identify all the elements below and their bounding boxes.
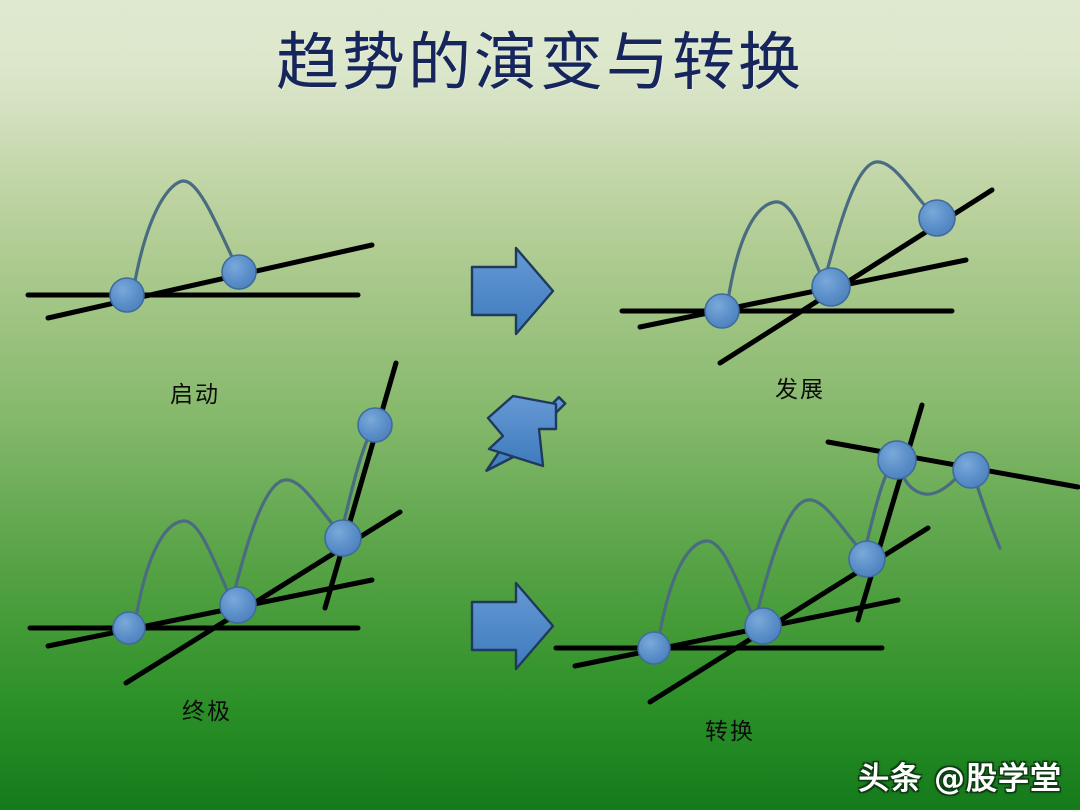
node-point [358,408,392,442]
slide-canvas: 趋势的演变与转换 [0,0,1080,810]
node-point [812,268,850,306]
trendline-2 [650,528,928,702]
node-point [220,587,256,623]
node-point [222,255,256,289]
node-point [110,278,144,312]
node-point [638,632,670,664]
trendline-1 [48,245,372,318]
right-arrow-icon [472,583,553,669]
trendline-1 [48,580,372,646]
node-point [113,612,145,644]
panel-label-turning: 转换 [705,712,755,746]
watermark: 头条 @股学堂 [858,753,1062,798]
panel-ultimate [30,363,400,683]
node-point [325,520,361,556]
diagram-board [0,0,1080,810]
node-point [705,294,739,328]
arrow-start-to-development [472,248,553,334]
arrow-ultimate-to-turning [472,583,553,669]
panel-label-start: 启动 [170,375,220,409]
arrow-development-to-ultimate [486,396,565,471]
node-point [849,541,885,577]
node-point [953,452,989,488]
panel-development [622,162,992,363]
panel-label-ultimate: 终极 [182,692,232,726]
panel-start [28,181,372,318]
node-point [919,200,955,236]
panel-label-development: 发展 [775,370,825,404]
right-arrow-icon [472,248,553,334]
trendline-3 [325,363,396,608]
panel-turning [556,405,1078,702]
node-point [878,441,916,479]
trendline-1 [575,600,898,666]
node-point [745,608,781,644]
trendline-1 [640,260,966,327]
trendline-3 [858,405,922,620]
